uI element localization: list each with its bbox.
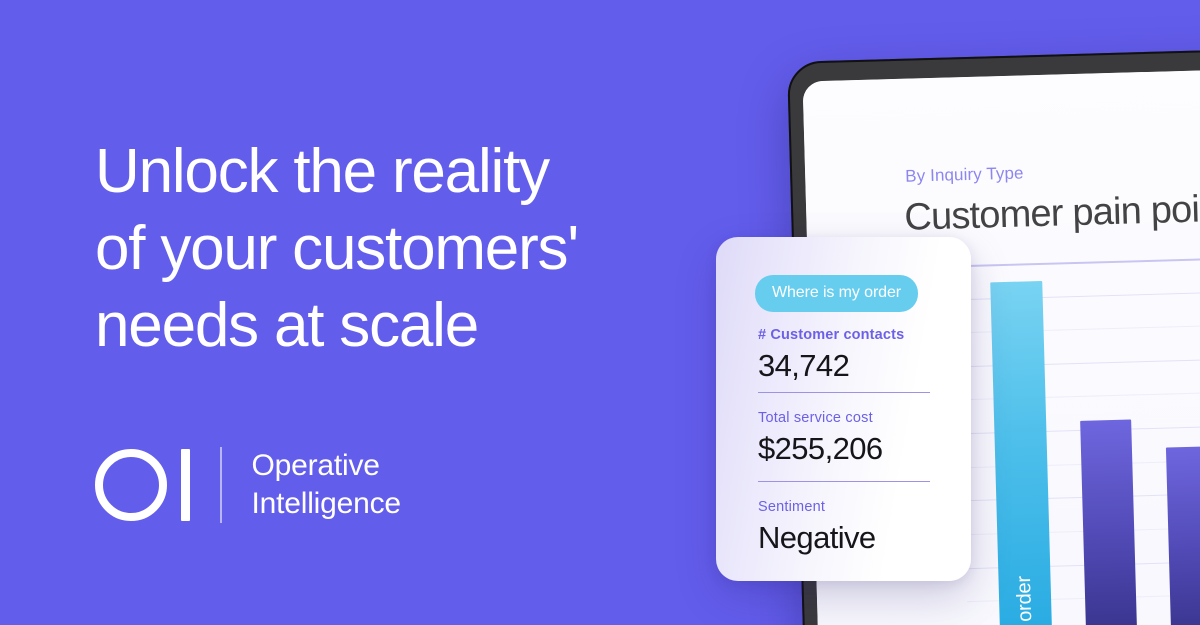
metric-label: # Customer contacts <box>758 327 930 343</box>
metric-sentiment: Sentiment Negative <box>758 499 930 558</box>
logo-mark <box>95 449 190 521</box>
logo-bar-icon <box>181 449 190 521</box>
metric-divider <box>758 392 930 393</box>
metric-divider <box>758 481 930 482</box>
chart-bar[interactable] <box>1166 446 1200 625</box>
marketing-banner: Unlock the reality of your customers' ne… <box>0 0 1200 625</box>
chart-bar[interactable]: Where is my order <box>990 281 1053 625</box>
status-badge[interactable]: Where is my order <box>755 275 918 312</box>
metric-value: Negative <box>758 518 930 558</box>
metric-label: Total service cost <box>758 410 930 426</box>
bar-chart: 35K30K25K20K15K10K Where is my order <box>958 256 1200 625</box>
metric-customer-contacts: # Customer contacts 34,742 <box>758 327 930 386</box>
chart-bar[interactable] <box>1080 419 1139 625</box>
logo-circle-icon <box>95 449 167 521</box>
chart-title: Customer pain point <box>904 188 1200 240</box>
metric-total-service-cost: Total service cost $255,206 <box>758 410 930 469</box>
chart-bars: Where is my order <box>990 256 1200 625</box>
brand-name: Operative Intelligence <box>252 447 401 523</box>
metric-label: Sentiment <box>758 499 930 515</box>
page-title: Unlock the reality of your customers' ne… <box>95 133 695 364</box>
logo-divider <box>220 447 222 523</box>
metric-value: $255,206 <box>758 429 930 469</box>
metric-detail-card: Where is my order # Customer contacts 34… <box>716 237 971 581</box>
metric-value: 34,742 <box>758 346 930 386</box>
chart-subtitle: By Inquiry Type <box>905 163 1024 186</box>
brand-logo: Operative Intelligence <box>95 447 401 523</box>
chart-bar-label: Where is my order <box>1013 576 1040 625</box>
